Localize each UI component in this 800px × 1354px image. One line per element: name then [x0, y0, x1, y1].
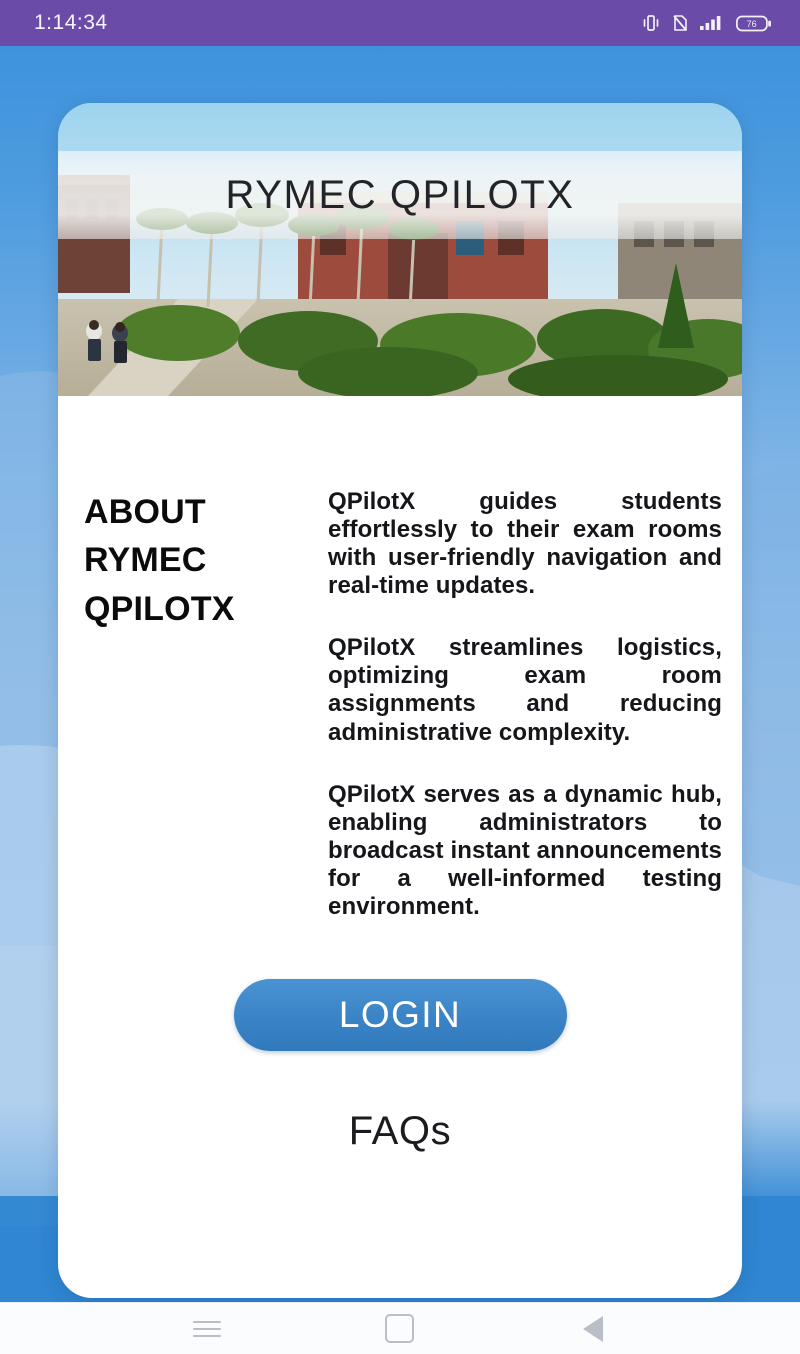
home-square-shape — [385, 1314, 414, 1343]
status-bar: 1:14:34 — [0, 0, 800, 46]
phone-screen: 1:14:34 — [0, 0, 800, 1354]
home-icon[interactable] — [370, 1309, 430, 1349]
main-card: RYMEC QPILOTX ABOUT RYMEC QPILOTX QPilot… — [58, 103, 742, 1298]
about-heading: ABOUT RYMEC QPILOTX — [80, 488, 322, 921]
app-title: RYMEC QPILOTX — [225, 173, 574, 218]
campus-photo-illustration — [58, 103, 742, 396]
about-paragraph-2: QPilotX streamlines logistics, optimizin… — [328, 634, 722, 746]
login-button[interactable]: LOGIN — [234, 979, 567, 1051]
no-sim-icon — [672, 14, 688, 32]
hamburger-lines — [193, 1316, 221, 1342]
hero-image: RYMEC QPILOTX — [58, 103, 742, 396]
about-paragraphs: QPilotX guides students effortlessly to … — [322, 488, 722, 921]
status-icon-group: 76 — [641, 14, 772, 33]
battery-icon: 76 — [736, 14, 772, 33]
android-nav-bar — [0, 1302, 800, 1354]
battery-level-text: 76 — [747, 19, 757, 29]
faqs-link[interactable]: FAQs — [349, 1109, 451, 1154]
about-paragraph-3: QPilotX serves as a dynamic hub, enablin… — [328, 781, 722, 921]
status-time: 1:14:34 — [34, 11, 108, 35]
about-section: ABOUT RYMEC QPILOTX QPilotX guides stude… — [58, 396, 742, 921]
vibrate-icon — [641, 14, 661, 32]
action-area: LOGIN FAQs — [58, 979, 742, 1154]
app-background: RYMEC QPILOTX ABOUT RYMEC QPILOTX QPilot… — [0, 46, 800, 1302]
back-icon[interactable] — [563, 1309, 623, 1349]
back-triangle-shape — [583, 1316, 603, 1342]
recents-menu-icon[interactable] — [177, 1309, 237, 1349]
hero-title-banner: RYMEC QPILOTX — [58, 151, 742, 239]
about-paragraph-1: QPilotX guides students effortlessly to … — [328, 488, 722, 600]
signal-bars-icon — [699, 14, 725, 32]
